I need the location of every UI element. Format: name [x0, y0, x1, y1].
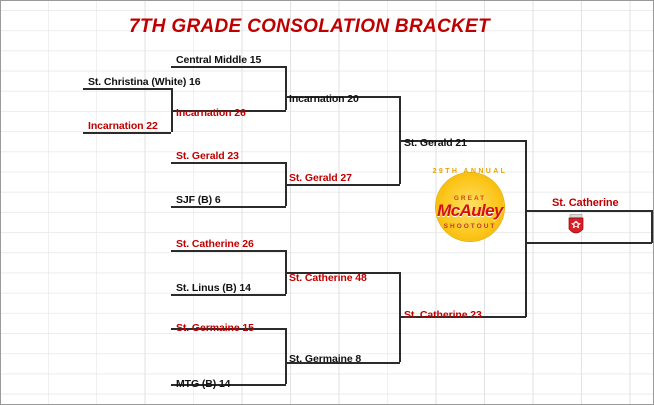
team-st-catherine-26: St. Catherine 26	[176, 238, 254, 250]
team-st-christina: St. Christina (White) 16	[88, 76, 201, 88]
connector-r1-pair-4	[285, 328, 287, 384]
trophy-crest-icon	[566, 214, 586, 240]
team-st-linus: St. Linus (B) 14	[176, 282, 251, 294]
team-central-middle: Central Middle 15	[176, 54, 261, 66]
line-r1-st-christina	[83, 88, 171, 90]
line-champion-right	[651, 210, 653, 243]
team-st-gerald-27: St. Gerald 27	[289, 172, 352, 184]
line-r1-central-middle	[171, 66, 286, 68]
team-sjf: SJF (B) 6	[176, 194, 221, 206]
line-champion-bottom	[525, 242, 652, 244]
connector-final	[525, 140, 527, 317]
team-champion: St. Catherine	[552, 197, 619, 209]
logo-annual-text: 29TH ANNUAL	[431, 168, 509, 197]
team-st-catherine-48: St. Catherine 48	[289, 272, 367, 284]
mcauley-shootout-logo: 29TH ANNUAL GREAT McAuley SHOOTOUT	[431, 168, 509, 246]
line-r1-st-gerald-23	[171, 162, 286, 164]
team-incarnation-22: Incarnation 22	[88, 120, 158, 132]
logo-shootout-text: SHOOTOUT	[431, 223, 509, 230]
line-r1-st-catherine-26	[171, 250, 286, 252]
logo-name-text: McAuley	[431, 201, 509, 221]
team-st-germaine-15: St. Germaine 15	[176, 322, 254, 334]
team-incarnation-20: Incarnation 20	[289, 93, 359, 105]
team-st-germaine-8: St. Germaine 8	[289, 353, 361, 365]
page-title: 7TH GRADE CONSOLATION BRACKET	[129, 16, 490, 38]
line-r1-st-linus	[171, 294, 286, 296]
bracket-sheet: 7TH GRADE CONSOLATION BRACKET	[0, 0, 654, 405]
line-r1-incarnation-22	[83, 132, 171, 134]
team-mtg: MTG (B) 14	[176, 378, 230, 390]
line-r1-sjf	[171, 206, 286, 208]
line-r2-st-gerald-27	[285, 184, 400, 186]
line-champion-top	[525, 210, 652, 212]
team-st-gerald-21: St. Gerald 21	[404, 137, 467, 149]
team-st-catherine-23: St. Catherine 23	[404, 309, 482, 321]
team-incarnation-26: Incarnation 26	[176, 107, 246, 119]
team-st-gerald-23: St. Gerald 23	[176, 150, 239, 162]
connector-r2-pair-1	[285, 66, 287, 110]
